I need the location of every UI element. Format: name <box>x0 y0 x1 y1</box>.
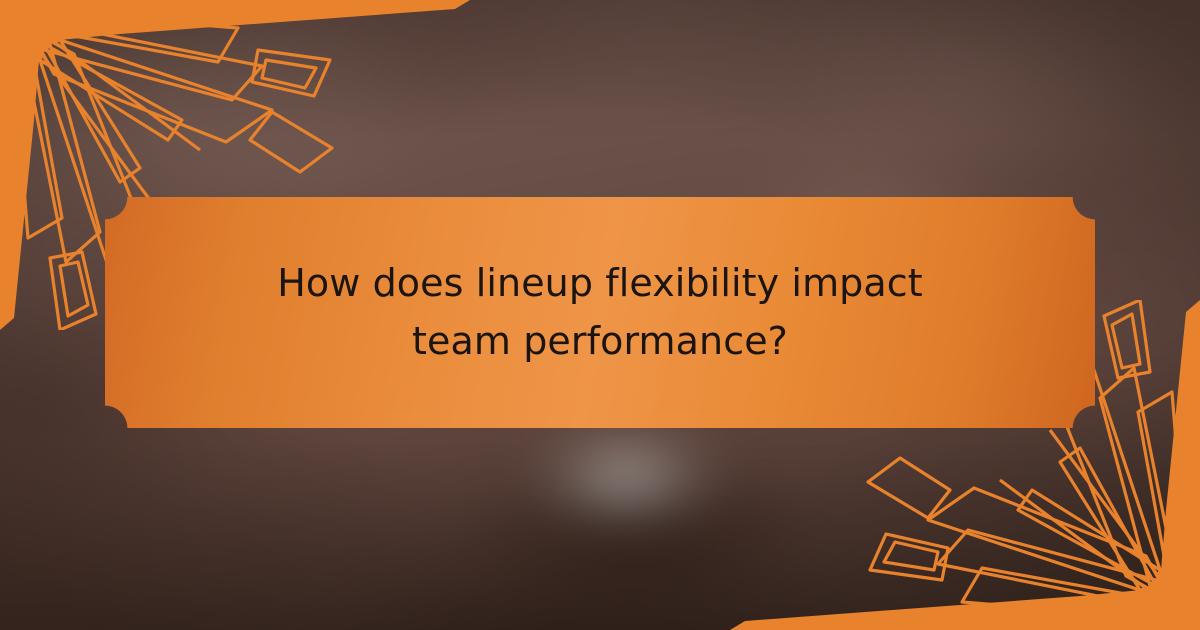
headline-text: How does lineup flexibility impact team … <box>105 197 1095 428</box>
headline-banner: How does lineup flexibility impact team … <box>105 197 1095 428</box>
social-card: How does lineup flexibility impact team … <box>0 0 1200 630</box>
